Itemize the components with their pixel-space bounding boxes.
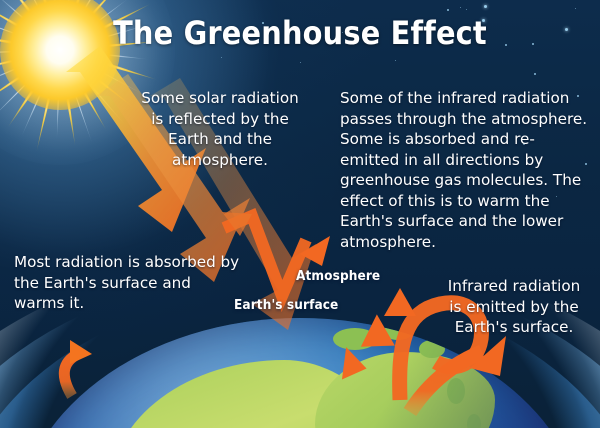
annotation-radiation-absorbed-text: Most radiation is absorbed by the Earth'… <box>14 253 239 312</box>
label-atmosphere: Atmosphere <box>296 268 380 284</box>
greenhouse-effect-diagram: The Greenhouse Effect Some solar radiati… <box>0 0 600 428</box>
annotation-infrared-emitted-text: Infrared radiation is emitted by the Ear… <box>448 277 581 336</box>
annotation-solar-reflected-text: Some solar radiation is reflected by the… <box>141 89 299 169</box>
label-earth-surface: Earth's surface <box>234 297 338 313</box>
page-title: The Greenhouse Effect <box>0 14 600 52</box>
curved-up-arrow-icon <box>64 340 92 396</box>
annotation-infrared-emitted: Infrared radiation is emitted by the Ear… <box>434 276 594 338</box>
upward-arrow-icon <box>410 336 506 412</box>
annotation-infrared-transmitted-text: Some of the infrared radiation passes th… <box>340 89 587 251</box>
annotation-infrared-transmitted: Some of the infrared radiation passes th… <box>340 88 592 252</box>
annotation-radiation-absorbed: Most radiation is absorbed by the Earth'… <box>14 252 244 314</box>
annotation-solar-reflected: Some solar radiation is reflected by the… <box>110 88 330 170</box>
